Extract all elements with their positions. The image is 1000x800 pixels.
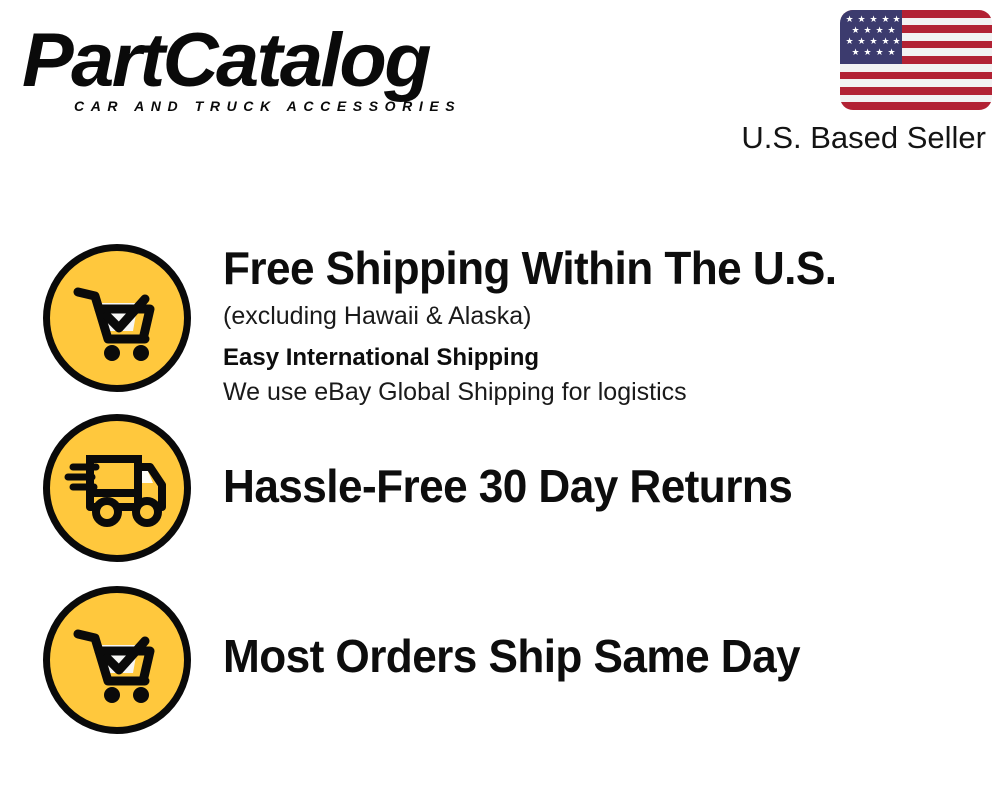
feature-text-block: Free Shipping Within The U.S. (excluding…: [223, 240, 990, 409]
feature-text-block: Most Orders Ship Same Day: [223, 628, 990, 684]
us-based-seller-badge: ★ ★ ★ ★ ★ ★ ★ ★ ★ ★ ★ ★ ★ ★ ★ ★ ★ ★ U.S.…: [672, 10, 992, 157]
seller-label: U.S. Based Seller: [672, 119, 992, 157]
banner-header: PartCatalog CAR AND TRUCK ACCESSORIES ★ …: [0, 0, 1000, 180]
shopping-cart-check-icon: [43, 586, 191, 734]
shopping-cart-check-icon: [43, 244, 191, 392]
feature-heading: Hassle-Free 30 Day Returns: [223, 458, 959, 514]
feature-list: Free Shipping Within The U.S. (excluding…: [0, 180, 1000, 800]
feature-heading: Free Shipping Within The U.S.: [223, 240, 959, 296]
brand-tagline: CAR AND TRUCK ACCESSORIES: [74, 98, 461, 114]
feature-item: Hassle-Free 30 Day Returns: [0, 414, 1000, 586]
feature-heading: Most Orders Ship Same Day: [223, 628, 959, 684]
feature-strong-line: Easy International Shipping: [223, 341, 990, 374]
feature-subtext: (excluding Hawaii & Alaska): [223, 299, 990, 333]
feature-text-block: Hassle-Free 30 Day Returns: [223, 458, 990, 514]
feature-item: Free Shipping Within The U.S. (excluding…: [0, 240, 1000, 420]
feature-note: We use eBay Global Shipping for logistic…: [223, 375, 990, 409]
feature-item: Most Orders Ship Same Day: [0, 586, 1000, 758]
delivery-truck-icon: [43, 414, 191, 562]
brand-wordmark: PartCatalog: [22, 22, 501, 100]
us-flag-icon: ★ ★ ★ ★ ★ ★ ★ ★ ★ ★ ★ ★ ★ ★ ★ ★ ★ ★: [840, 10, 992, 110]
brand-logo: PartCatalog CAR AND TRUCK ACCESSORIES: [22, 22, 492, 122]
